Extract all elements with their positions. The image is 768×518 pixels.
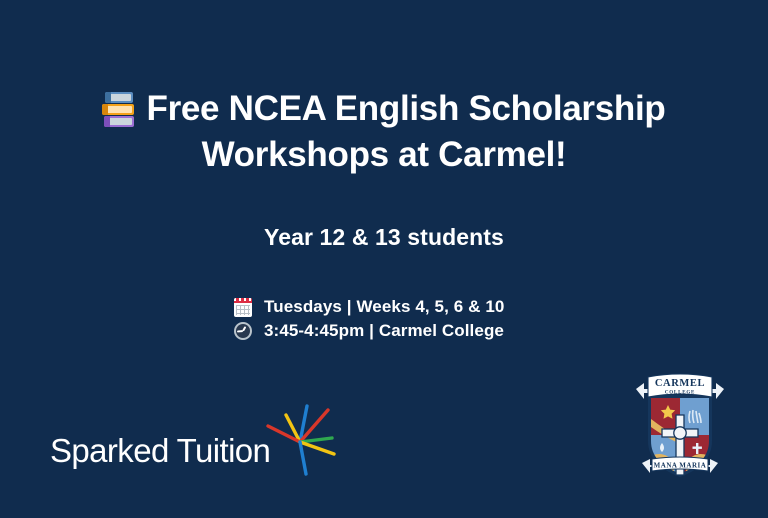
clock-icon (234, 322, 252, 340)
carmel-college-crest-icon: CARMEL COLLEGE MANA MARIA (626, 367, 734, 483)
crest-top-banner: CARMEL COLLEGE (636, 374, 724, 399)
book-top-shape (105, 92, 133, 103)
books-icon (102, 91, 136, 127)
calendar-icon (234, 298, 252, 317)
subtitle-year-levels: Year 12 & 13 students (0, 224, 768, 251)
detail-row-schedule: Tuesdays | Weeks 4, 5, 6 & 10 (234, 297, 534, 317)
spark-burst-icon (266, 398, 346, 478)
sparked-tuition-wordmark: Sparked Tuition (50, 432, 270, 470)
headline-line-2: Workshops at Carmel! (0, 132, 768, 178)
crest-banner-carmel: CARMEL (655, 378, 705, 389)
promotional-poster: Free NCEA English Scholarship Workshops … (0, 0, 768, 518)
book-bottom-shape (104, 116, 134, 127)
headline-line-1: Free NCEA English Scholarship (146, 86, 665, 132)
headline-block: Free NCEA English Scholarship Workshops … (0, 86, 768, 178)
headline-line-1-row: Free NCEA English Scholarship (0, 86, 768, 132)
crest-banner-college: COLLEGE (665, 391, 695, 396)
detail-row-time-location: 3:45-4:45pm | Carmel College (234, 321, 534, 341)
crest-banner-mana-maria: MANA MARIA (654, 462, 707, 470)
sparked-tuition-logo: Sparked Tuition (50, 424, 346, 478)
book-middle-shape (102, 104, 134, 115)
details-block: Tuesdays | Weeks 4, 5, 6 & 10 3:45-4:45p… (0, 297, 768, 341)
detail-text-schedule: Tuesdays | Weeks 4, 5, 6 & 10 (264, 297, 504, 317)
detail-text-time-location: 3:45-4:45pm | Carmel College (264, 321, 504, 341)
